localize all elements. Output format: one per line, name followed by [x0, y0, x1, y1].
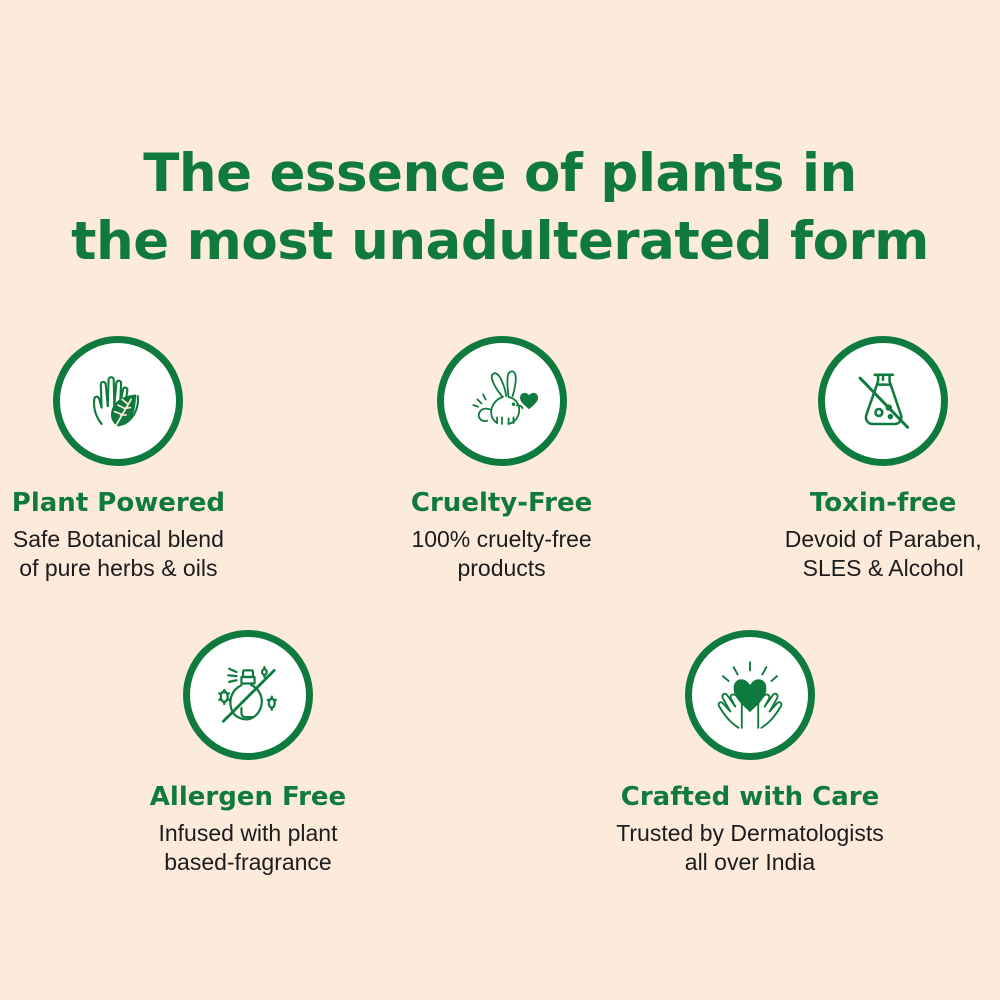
- badge-plant-powered: [53, 336, 183, 466]
- feature-description: Safe Botanical blend of pure herbs & oil…: [13, 525, 224, 583]
- feature-desc-line-2: based-fragrance: [158, 848, 337, 877]
- feature-row-2: Allergen Free Infused with plant based-f…: [0, 630, 1000, 877]
- hand-leaf-icon: [77, 360, 159, 442]
- feature-description: Devoid of Paraben, SLES & Alcohol: [785, 525, 982, 583]
- heart-shape: [734, 679, 767, 712]
- feature-plant-powered: Plant Powered Safe Botanical blend of pu…: [0, 336, 237, 583]
- feature-title: Cruelty-Free: [411, 488, 592, 518]
- feature-toxin-free: Toxin-free Devoid of Paraben, SLES & Alc…: [766, 336, 1000, 583]
- feature-desc-line-2: SLES & Alcohol: [785, 554, 982, 583]
- feature-title: Crafted with Care: [621, 782, 880, 812]
- feature-title: Allergen Free: [150, 782, 346, 812]
- rabbit-heart-icon: [461, 360, 543, 442]
- feature-cruelty-free: Cruelty-Free 100% cruelty-free products: [385, 336, 619, 583]
- promo-banner: The essence of plants in the most unadul…: [0, 0, 1000, 1000]
- headline-line-1: The essence of plants in: [0, 140, 1000, 208]
- feature-desc-line-2: products: [411, 554, 591, 583]
- feature-title: Plant Powered: [12, 488, 225, 518]
- feature-desc-line-1: Devoid of Paraben,: [785, 525, 982, 554]
- feature-desc-line-1: 100% cruelty-free: [411, 525, 591, 554]
- feature-allergen-free: Allergen Free Infused with plant based-f…: [100, 630, 396, 877]
- headline-line-2: the most unadulterated form: [0, 208, 1000, 276]
- no-fragrance-allergen-icon: [207, 654, 289, 736]
- feature-desc-line-1: Trusted by Dermatologists: [616, 819, 884, 848]
- feature-desc-line-2: all over India: [616, 848, 884, 877]
- page-title: The essence of plants in the most unadul…: [0, 140, 1000, 276]
- feature-description: Infused with plant based-fragrance: [158, 819, 337, 877]
- feature-description: 100% cruelty-free products: [411, 525, 591, 583]
- no-chemical-flask-icon: [842, 360, 924, 442]
- feature-title: Toxin-free: [810, 488, 957, 518]
- feature-crafted-with-care: Crafted with Care Trusted by Dermatologi…: [600, 630, 900, 877]
- badge-toxin-free: [818, 336, 948, 466]
- feature-row-1: Plant Powered Safe Botanical blend of pu…: [0, 336, 1000, 583]
- badge-allergen-free: [183, 630, 313, 760]
- hands-holding-heart-icon: [709, 654, 791, 736]
- feature-desc-line-1: Infused with plant: [158, 819, 337, 848]
- rabbit-eye: [511, 403, 514, 406]
- feature-desc-line-2: of pure herbs & oils: [13, 554, 224, 583]
- feature-grid: Plant Powered Safe Botanical blend of pu…: [0, 336, 1000, 877]
- badge-crafted-with-care: [685, 630, 815, 760]
- feature-desc-line-1: Safe Botanical blend: [13, 525, 224, 554]
- badge-cruelty-free: [437, 336, 567, 466]
- feature-description: Trusted by Dermatologists all over India: [616, 819, 884, 877]
